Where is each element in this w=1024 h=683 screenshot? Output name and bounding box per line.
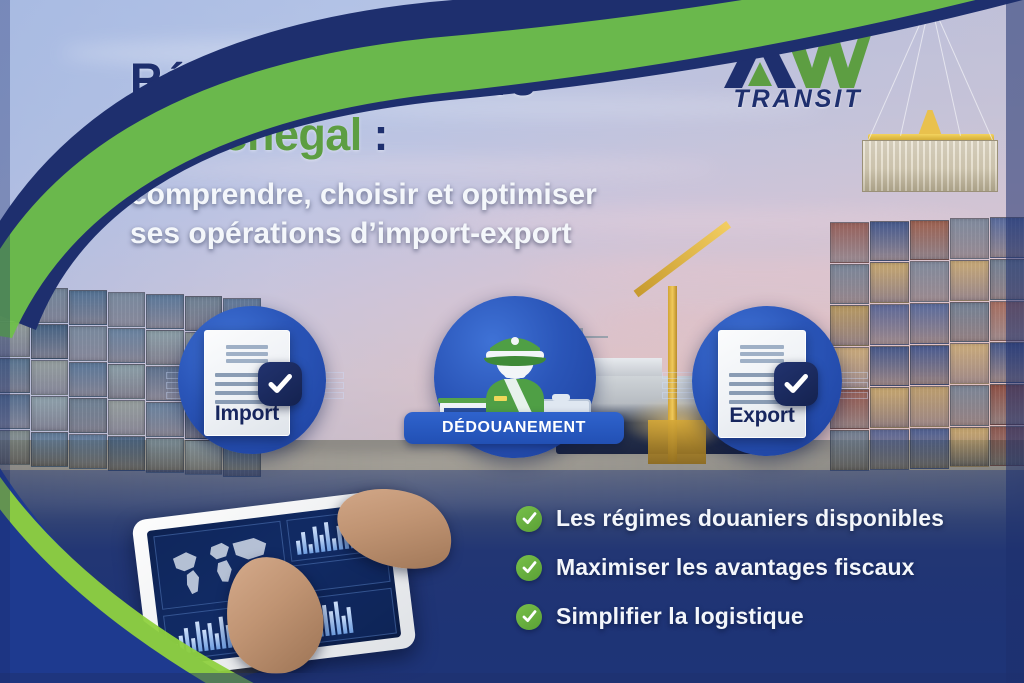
headline-subtitle: comprendre, choisir et optimiser ses opé…: [130, 175, 730, 253]
check-circle-icon: [516, 506, 542, 532]
list-item: Simplifier la logistique: [516, 603, 1014, 630]
list-item: Les régimes douaniers disponibles: [516, 505, 1014, 532]
badge-label-export: Export: [719, 404, 805, 428]
benefit-text: Les régimes douaniers disponibles: [556, 505, 944, 532]
check-icon: [521, 608, 538, 625]
badge-label-dedouanement-ribbon: DÉDOUANEMENT: [404, 412, 624, 444]
headline-accent-senegal: Sénégal: [193, 109, 361, 160]
logo-wordmark: TRANSIT: [728, 85, 868, 114]
check-icon: [521, 510, 538, 527]
headline-line-2-prefix: au: [130, 109, 193, 160]
headline-line-2: au Sénégal :: [130, 111, 730, 160]
aw-transit-logo[interactable]: TRANSIT: [722, 28, 872, 116]
subtitle-line-2: ses opérations d’import-export: [130, 214, 730, 253]
benefits-list: Les régimes douaniers disponibles Maximi…: [516, 505, 1014, 652]
badge-label-dedouanement: DÉDOUANEMENT: [442, 419, 586, 437]
suspended-container: [862, 96, 1002, 192]
badge-export[interactable]: Export: [692, 306, 842, 456]
aw-monogram-icon: [722, 28, 872, 92]
badge-import[interactable]: Import: [178, 306, 326, 454]
benefit-text: Maximiser les avantages fiscaux: [556, 554, 915, 581]
benefit-text: Simplifier la logistique: [556, 603, 804, 630]
headline-line-2-suffix: :: [362, 109, 388, 160]
headline-line-1: Régimes douaniers: [130, 56, 730, 105]
check-icon: [782, 370, 810, 398]
subtitle-line-1: comprendre, choisir et optimiser: [130, 175, 730, 214]
promo-poster: Import: [0, 0, 1024, 683]
tablet-in-hands: [140, 498, 440, 683]
check-icon: [266, 370, 294, 398]
check-badge-icon: [258, 362, 302, 406]
check-icon: [521, 559, 538, 576]
list-item: Maximiser les avantages fiscaux: [516, 554, 1014, 581]
check-circle-icon: [516, 555, 542, 581]
headline-block: Régimes douaniers au Sénégal : comprendr…: [130, 56, 730, 253]
check-badge-icon: [774, 362, 818, 406]
check-circle-icon: [516, 604, 542, 630]
container-stack-right: [830, 222, 1024, 472]
